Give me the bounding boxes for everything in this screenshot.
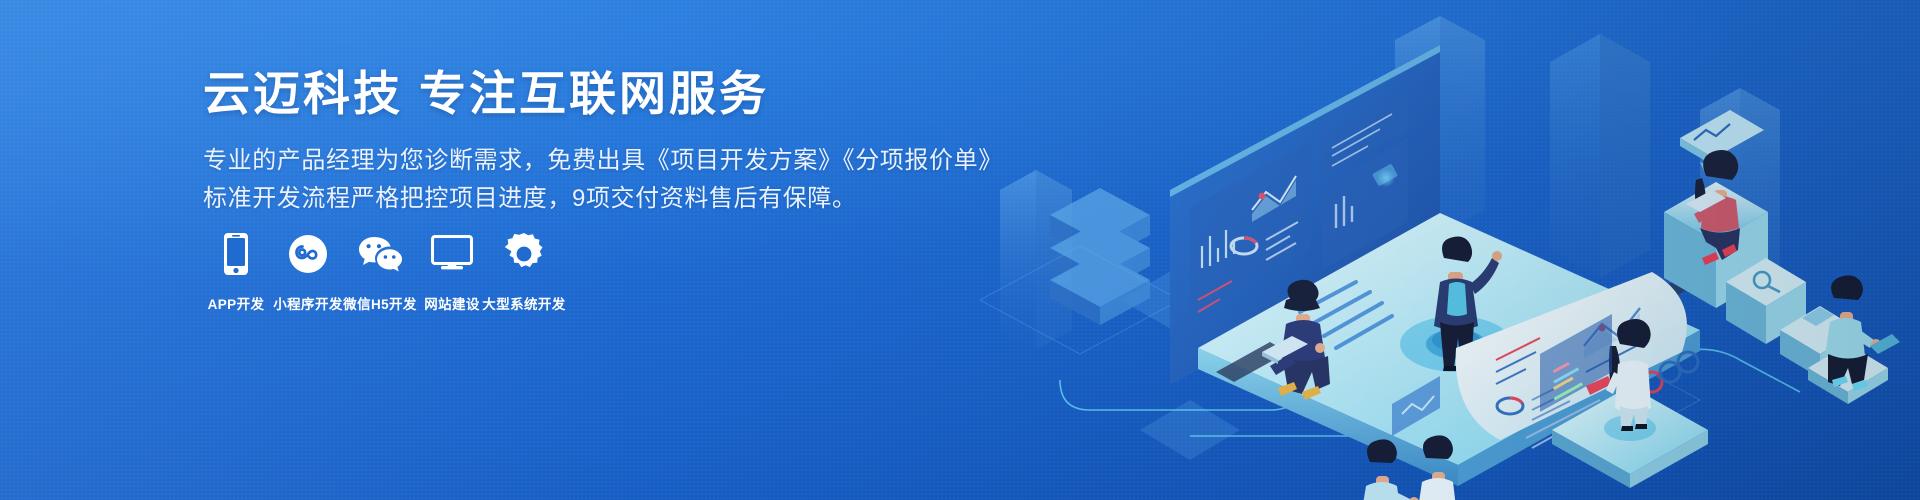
gear-icon: [503, 228, 545, 280]
service-label: 微信H5开发: [343, 293, 417, 313]
subtitle-line-2: 标准开发流程严格把控项目进度，9项交付资料售后有保障。: [203, 180, 903, 218]
service-label: APP开发: [208, 293, 265, 313]
isometric-illustration: [940, 0, 1920, 500]
page-title: 云迈科技 专注互联网服务: [203, 66, 903, 121]
service-item-wechat-h5[interactable]: 微信H5开发: [344, 228, 416, 313]
smartphone-icon: [223, 228, 249, 280]
service-label: 小程序开发: [273, 293, 343, 313]
service-item-miniprogram[interactable]: 小程序开发: [272, 228, 344, 313]
service-icon-row: APP开发 小程序开发: [200, 228, 560, 313]
subtitle-line-1: 专业的产品经理为您诊断需求，免费出具《项目开发方案》《分项报价单》: [203, 142, 903, 180]
monitor-icon: [431, 228, 473, 280]
hero-subtitle: 专业的产品经理为您诊断需求，免费出具《项目开发方案》《分项报价单》 标准开发流程…: [203, 121, 903, 218]
wechat-icon: [357, 228, 403, 280]
mini-program-icon: [288, 228, 328, 280]
service-item-app[interactable]: APP开发: [200, 228, 272, 313]
service-item-large-system[interactable]: 大型系统开发: [488, 228, 560, 313]
hero-banner: 云迈科技 专注互联网服务 专业的产品经理为您诊断需求，免费出具《项目开发方案》《…: [0, 0, 1920, 500]
hero-copy: 云迈科技 专注互联网服务 专业的产品经理为您诊断需求，免费出具《项目开发方案》《…: [203, 66, 903, 218]
service-label: 网站建设: [424, 293, 480, 313]
service-item-website[interactable]: 网站建设: [416, 228, 488, 313]
service-label: 大型系统开发: [482, 293, 565, 313]
